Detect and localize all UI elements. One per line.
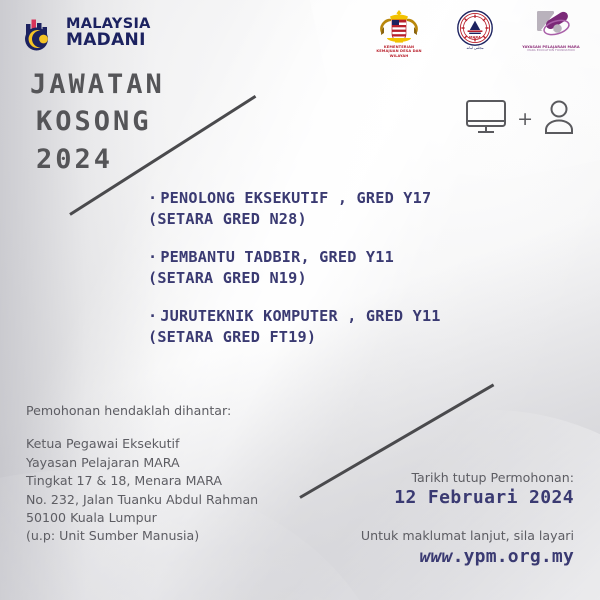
- mara-emblem: MARA مجلس امانه: [444, 8, 506, 53]
- application-address-block: Pemohonan hendaklah dihantar: Ketua Pega…: [26, 402, 258, 546]
- job-bullet-icon: ·: [148, 189, 157, 207]
- address-line: Yayasan Pelajaran MARA: [26, 454, 258, 472]
- closing-date-label: Tarikh tutup Permohonan:: [394, 470, 574, 485]
- closing-date-block: Tarikh tutup Permohonan: 12 Februari 202…: [394, 470, 574, 508]
- address-line: Tingkat 17 & 18, Menara MARA: [26, 472, 258, 490]
- job-title: JURUTEKNIK KOMPUTER , GRED Y11: [160, 307, 440, 325]
- website-url-domain: .ypm.org.my: [453, 546, 574, 567]
- person-icon: [542, 98, 576, 140]
- malaysia-madani-wordmark: MALAYSIA MADANI: [66, 18, 151, 48]
- job-bullet-icon: ·: [148, 248, 157, 266]
- jata-caption-line-2: KEMAJUAN DESA DAN WILAYAH: [368, 49, 430, 58]
- address-line: No. 232, Jalan Tuanku Abdul Rahman: [26, 491, 258, 509]
- agency-emblems: KEMENTERIAN KEMAJUAN DESA DAN WILAYAH: [368, 8, 582, 58]
- job-item: ·PEMBANTU TADBIR, GRED Y11 (SETARA GRED …: [148, 247, 578, 289]
- job-equivalence: (SETARA GRED N28): [148, 209, 578, 230]
- jata-negara-emblem: KEMENTERIAN KEMAJUAN DESA DAN WILAYAH: [368, 8, 430, 58]
- closing-date-value: 12 Februari 2024: [394, 487, 574, 508]
- malaysia-madani-brand: MALAYSIA MADANI: [20, 14, 151, 52]
- ypm-caption-line-2: MARA EDUCATION FOUNDATION: [520, 49, 582, 52]
- monitor-icon: [464, 98, 508, 140]
- address-line: (u.p: Unit Sumber Manusia): [26, 527, 258, 545]
- headline-line-2: KOSONG: [36, 103, 165, 140]
- job-item: ·JURUTEKNIK KOMPUTER , GRED Y11 (SETARA …: [148, 306, 578, 348]
- job-equivalence: (SETARA GRED N19): [148, 268, 578, 289]
- page-title: JAWATAN KOSONG 2024: [30, 66, 165, 178]
- svg-text:MARA: MARA: [469, 35, 481, 39]
- website-label: Untuk maklumat lanjut, sila layari: [361, 528, 574, 543]
- job-equivalence: (SETARA GRED FT19): [148, 327, 578, 348]
- poster-canvas: MALAYSIA MADANI: [0, 0, 600, 600]
- address-line: Ketua Pegawai Eksekutif: [26, 435, 258, 453]
- svg-text:مجلس امانه: مجلس امانه: [466, 46, 483, 50]
- job-item: ·PENOLONG EKSEKUTIF , GRED Y17 (SETARA G…: [148, 188, 578, 230]
- ypm-emblem: YAYASAN PELAJARAN MARA MARA EDUCATION FO…: [520, 8, 582, 53]
- job-title: PENOLONG EKSEKUTIF , GRED Y17: [160, 189, 431, 207]
- malaysia-madani-logo-icon: [20, 14, 60, 52]
- website-url-www: www: [419, 546, 452, 567]
- address-intro: Pemohonan hendaklah dihantar:: [26, 402, 258, 420]
- website-url[interactable]: www.ypm.org.my: [361, 546, 574, 567]
- job-title: PEMBANTU TADBIR, GRED Y11: [160, 248, 394, 266]
- computer-plus-person-graphic: +: [464, 98, 576, 140]
- job-list: ·PENOLONG EKSEKUTIF , GRED Y17 (SETARA G…: [148, 188, 578, 365]
- headline-line-1: JAWATAN: [30, 66, 165, 103]
- job-bullet-icon: ·: [148, 307, 157, 325]
- brand-line-2: MADANI: [66, 32, 151, 48]
- address-line: 50100 Kuala Lumpur: [26, 509, 258, 527]
- website-block: Untuk maklumat lanjut, sila layari www.y…: [361, 528, 574, 567]
- plus-icon: +: [517, 110, 533, 129]
- headline-line-3: 2024: [36, 141, 165, 178]
